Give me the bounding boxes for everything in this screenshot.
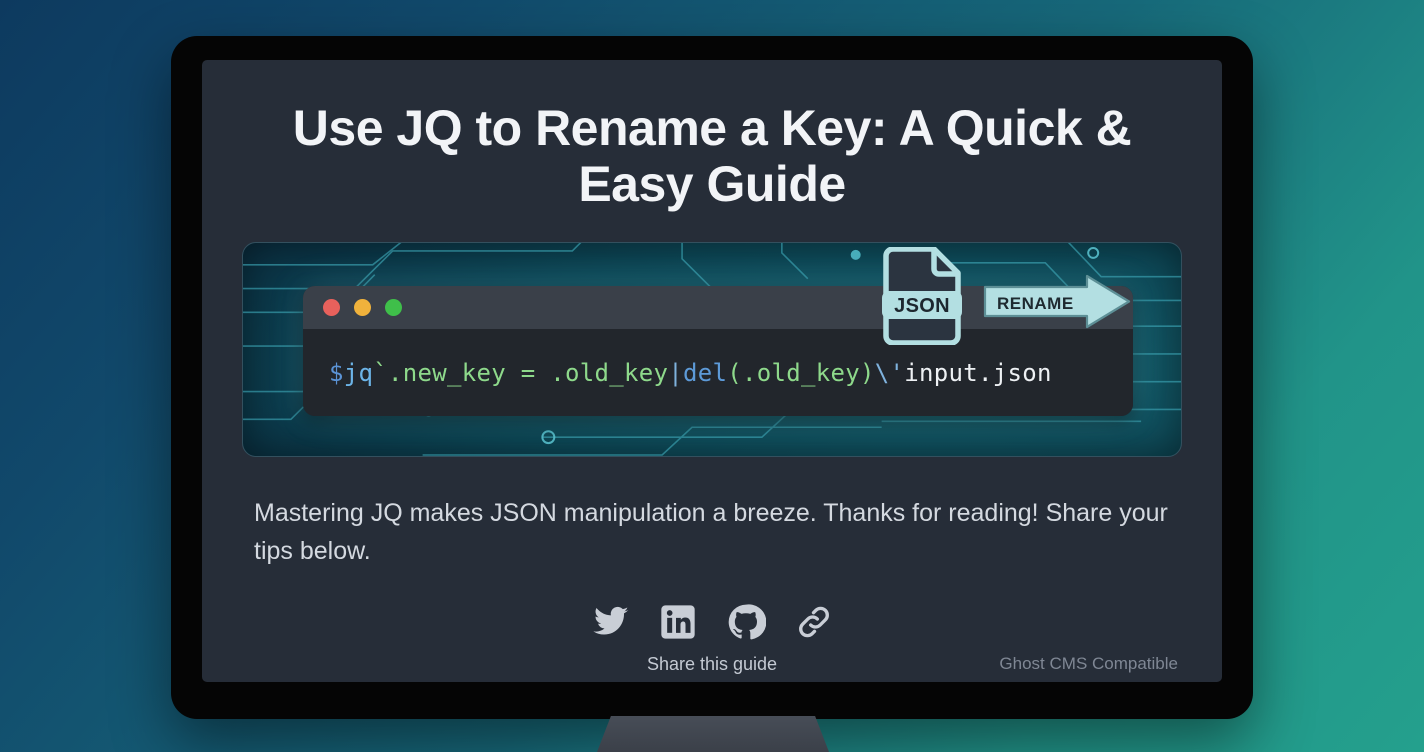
twitter-icon[interactable] [590,602,630,642]
json-label: JSON [894,295,950,317]
token-filename: input.json [904,359,1052,387]
monitor-stand [597,716,829,752]
code-showcase-card: $ jq `.new_key = .old_key | del (.old_ke… [242,242,1182,457]
token-del-arg: (.old_key) [727,359,875,387]
json-file-badge: JSON [880,247,964,345]
token-filter: `.new_key = .old_key [373,359,668,387]
window-close-dot[interactable] [323,299,340,316]
page-title: Use JQ to Rename a Key: A Quick & Easy G… [246,100,1178,212]
rename-arrow-badge: RENAME [983,274,1131,329]
social-share-row [202,602,1222,642]
terminal-command-line: $ jq `.new_key = .old_key | del (.old_ke… [303,329,1133,416]
token-prompt: $ [329,359,344,387]
footer-row: Share this guide Ghost CMS Compatible [202,654,1222,680]
window-minimize-dot[interactable] [354,299,371,316]
window-maximize-dot[interactable] [385,299,402,316]
link-icon[interactable] [794,602,834,642]
monitor-frame: Use JQ to Rename a Key: A Quick & Easy G… [171,36,1253,719]
platform-label: Ghost CMS Compatible [999,654,1178,674]
token-del: del [683,359,727,387]
rename-label: RENAME [997,294,1074,313]
token-escape: \' [875,359,905,387]
screen: Use JQ to Rename a Key: A Quick & Easy G… [202,60,1222,682]
github-icon[interactable] [726,602,766,642]
subtitle-text: Mastering JQ makes JSON manipulation a b… [254,495,1170,570]
token-command: jq [344,359,374,387]
linkedin-icon[interactable] [658,602,698,642]
token-pipe: | [668,359,683,387]
